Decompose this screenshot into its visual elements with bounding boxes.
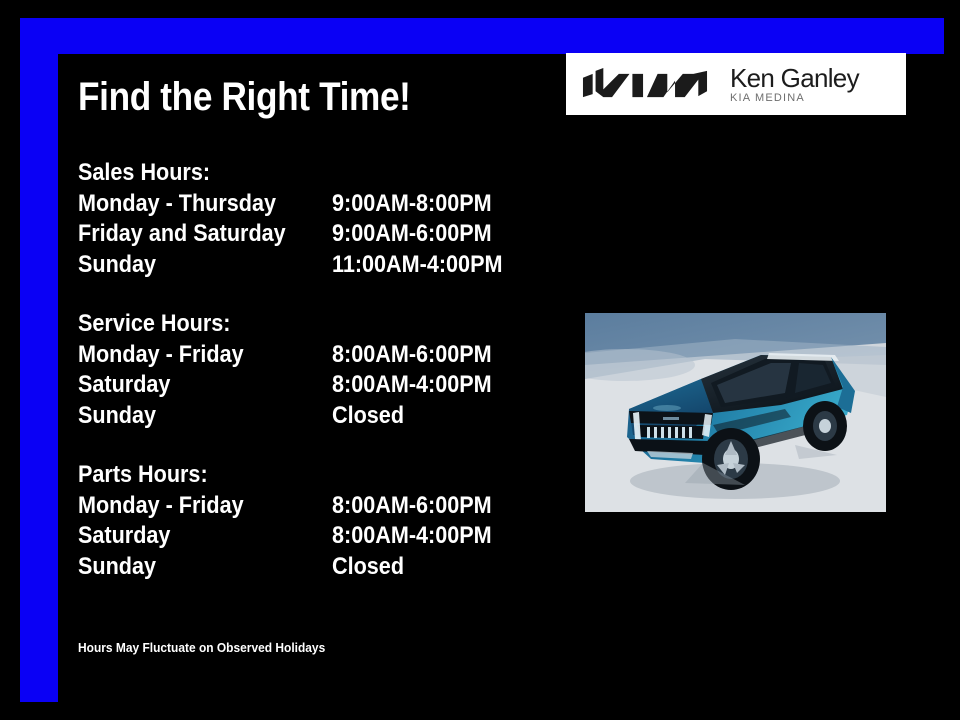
hours-row-time: 8:00AM-4:00PM bbox=[332, 370, 492, 401]
hours-row-day: Sunday bbox=[78, 552, 156, 583]
hours-row: Friday and Saturday 9:00AM-6:00PM bbox=[78, 219, 538, 250]
hours-row-day: Friday and Saturday bbox=[78, 219, 286, 250]
hours-row-day: Saturday bbox=[78, 521, 170, 552]
hours-row: Sunday 11:00AM-4:00PM bbox=[78, 250, 538, 281]
hours-row-day: Sunday bbox=[78, 401, 156, 432]
hours-row-day: Saturday bbox=[78, 370, 170, 401]
hours-group-heading: Parts Hours: bbox=[78, 460, 492, 491]
hours-row-time: 8:00AM-6:00PM bbox=[332, 340, 492, 371]
dealer-name-block: Ken Ganley KIA MEDINA bbox=[730, 65, 859, 104]
hours-list: Sales Hours: Monday - Thursday 9:00AM-8:… bbox=[78, 158, 538, 582]
hours-row-day: Monday - Friday bbox=[78, 340, 244, 371]
holiday-disclaimer: Hours May Fluctuate on Observed Holidays bbox=[78, 640, 325, 655]
hours-group-heading: Sales Hours: bbox=[78, 158, 492, 189]
vehicle-photo bbox=[585, 313, 886, 512]
hours-row: Sunday Closed bbox=[78, 401, 538, 432]
dealer-logo-card: Ken Ganley KIA MEDINA bbox=[566, 53, 906, 115]
page-title: Find the Right Time! bbox=[78, 76, 411, 118]
hours-row-time: 9:00AM-6:00PM bbox=[332, 219, 492, 250]
rear-wheel bbox=[803, 401, 847, 451]
hours-row-time: 9:00AM-8:00PM bbox=[332, 189, 492, 220]
kia-wordmark-icon bbox=[582, 67, 708, 101]
hours-row: Monday - Thursday 9:00AM-8:00PM bbox=[78, 189, 538, 220]
hours-row-day: Monday - Friday bbox=[78, 491, 244, 522]
hours-row-day: Monday - Thursday bbox=[78, 189, 276, 220]
hours-group-service: Service Hours: Monday - Friday 8:00AM-6:… bbox=[78, 309, 538, 431]
slide-canvas: Find the Right Time! Sales Hours: Monday… bbox=[0, 0, 960, 720]
dealer-subtitle: KIA MEDINA bbox=[730, 93, 859, 104]
hours-group-heading: Service Hours: bbox=[78, 309, 492, 340]
hours-row-time: 8:00AM-4:00PM bbox=[332, 521, 492, 552]
hours-row-time: Closed bbox=[332, 401, 404, 432]
hours-group-parts: Parts Hours: Monday - Friday 8:00AM-6:00… bbox=[78, 460, 538, 582]
hours-row-time: Closed bbox=[332, 552, 404, 583]
kia-ev9-illustration bbox=[585, 313, 886, 512]
hours-row-time: 8:00AM-6:00PM bbox=[332, 491, 492, 522]
hours-row: Saturday 8:00AM-4:00PM bbox=[78, 370, 538, 401]
kia-badge-on-hood bbox=[663, 417, 679, 420]
hours-row: Sunday Closed bbox=[78, 552, 538, 583]
hours-row-time: 11:00AM-4:00PM bbox=[332, 250, 502, 281]
hours-row: Monday - Friday 8:00AM-6:00PM bbox=[78, 491, 538, 522]
hours-row: Saturday 8:00AM-4:00PM bbox=[78, 521, 538, 552]
dealer-name: Ken Ganley bbox=[730, 65, 859, 91]
hours-row: Monday - Friday 8:00AM-6:00PM bbox=[78, 340, 538, 371]
hours-row-day: Sunday bbox=[78, 250, 156, 281]
hours-group-sales: Sales Hours: Monday - Thursday 9:00AM-8:… bbox=[78, 158, 538, 280]
